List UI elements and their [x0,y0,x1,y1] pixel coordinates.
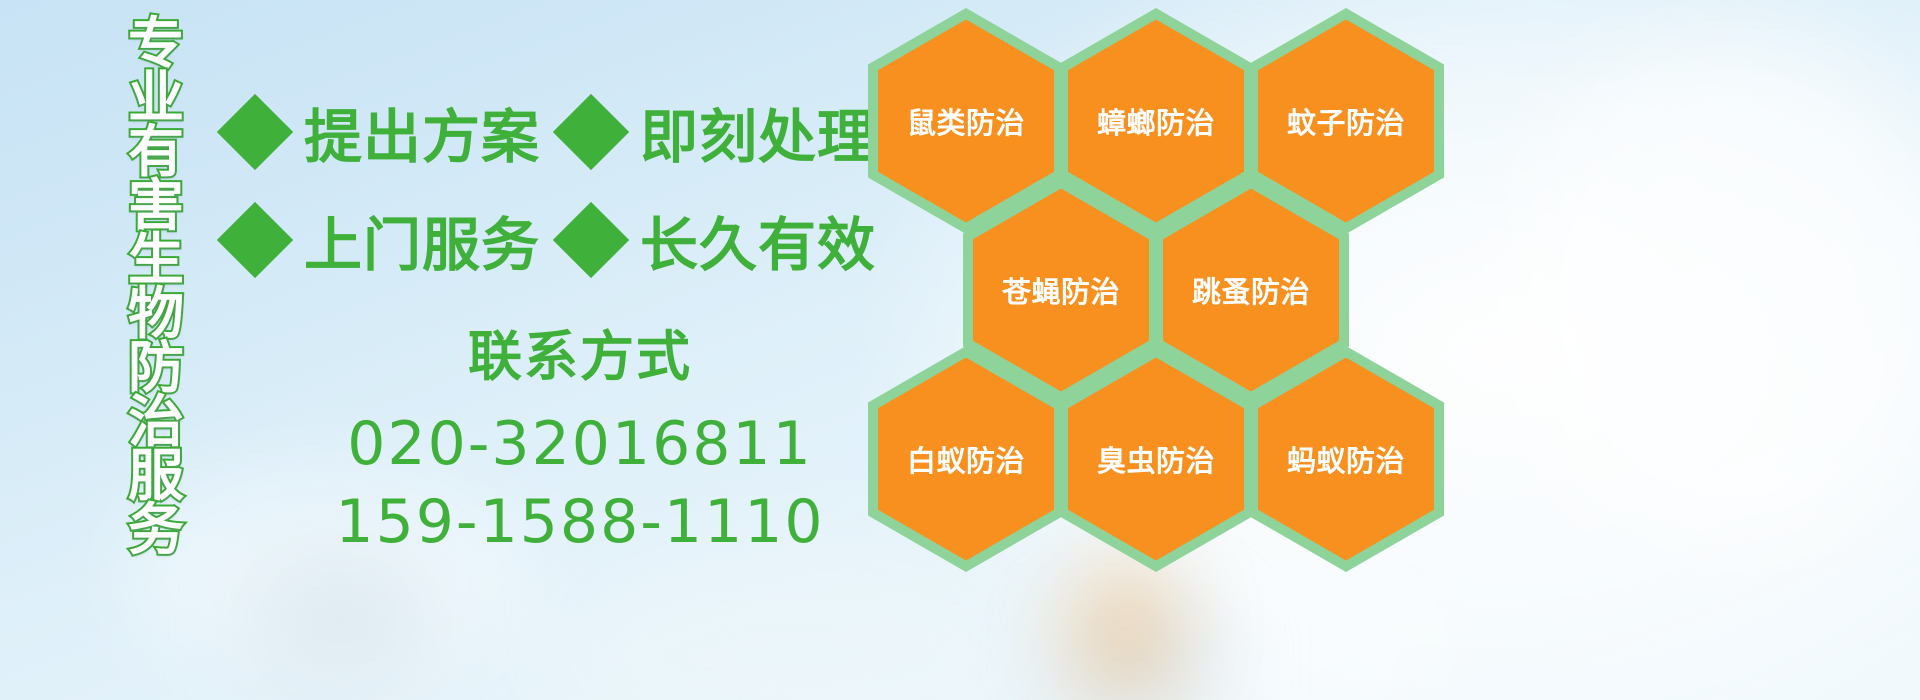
phone-number-mobile[interactable]: 159-1588-1110 [300,483,860,561]
service-hex-label: 蟑螂防治 [1097,100,1215,142]
background-glow-5 [250,560,430,680]
service-hex-label: 苍蝇防治 [1002,269,1120,311]
feature-label: 即刻处理 [640,90,876,174]
diamond-icon [553,202,629,278]
vertical-headline-char: 业 [128,72,184,126]
service-hex-fill: 蚊子防治 [1258,20,1434,223]
vertical-headline-char: 害 [128,180,184,234]
vertical-headline-char: 务 [128,504,184,558]
contact-block: 联系方式 020-32016811 159-1588-1110 [300,312,860,561]
service-hex-label: 鼠类防治 [907,100,1025,142]
contact-title: 联系方式 [300,312,860,391]
vertical-headline-char: 生 [128,234,184,288]
service-hex-fill: 臭虫防治 [1068,358,1244,561]
feature-row: 上门服务 长久有效 [228,186,868,294]
diamond-icon [217,94,293,170]
service-hex-fill: 鼠类防治 [878,20,1054,223]
vertical-headline-char: 治 [128,396,184,450]
service-honeycomb: 鼠类防治 蟑螂防治 蚊子防治 苍蝇防治 跳蚤防治 白蚁防治 [862,0,1482,700]
phone-number-landline[interactable]: 020-32016811 [300,405,860,483]
diamond-icon [553,94,629,170]
vertical-headline-char: 物 [128,288,184,342]
feature-label: 上门服务 [304,198,540,282]
vertical-headline-char: 防 [128,342,184,396]
feature-list: 提出方案 即刻处理 上门服务 长久有效 [228,78,868,294]
vertical-headline-char: 服 [128,450,184,504]
service-hex-label: 蚊子防治 [1287,100,1405,142]
vertical-headline: 专 业 有 害 生 物 防 治 服 务 [108,18,204,578]
service-hex-label: 蚂蚁防治 [1287,438,1405,480]
diamond-icon [217,202,293,278]
service-hex-fill: 蟑螂防治 [1068,20,1244,223]
service-hex-fill: 跳蚤防治 [1163,189,1339,392]
service-hex-fill: 白蚁防治 [878,358,1054,561]
service-hex-fill: 苍蝇防治 [973,189,1149,392]
promo-banner: 专 业 有 害 生 物 防 治 服 务 提出方案 即刻处理 上门服务 长久有效 … [0,0,1920,700]
feature-label: 提出方案 [304,90,540,174]
feature-row: 提出方案 即刻处理 [228,78,868,186]
vertical-headline-char: 专 [128,18,184,72]
service-hex-label: 跳蚤防治 [1192,269,1310,311]
service-hex-label: 白蚁防治 [907,438,1025,480]
background-glow-4 [1500,40,1920,560]
service-hex-fill: 蚂蚁防治 [1258,358,1434,561]
vertical-headline-char: 有 [128,126,184,180]
feature-label: 长久有效 [640,198,876,282]
service-hex-label: 臭虫防治 [1097,438,1215,480]
